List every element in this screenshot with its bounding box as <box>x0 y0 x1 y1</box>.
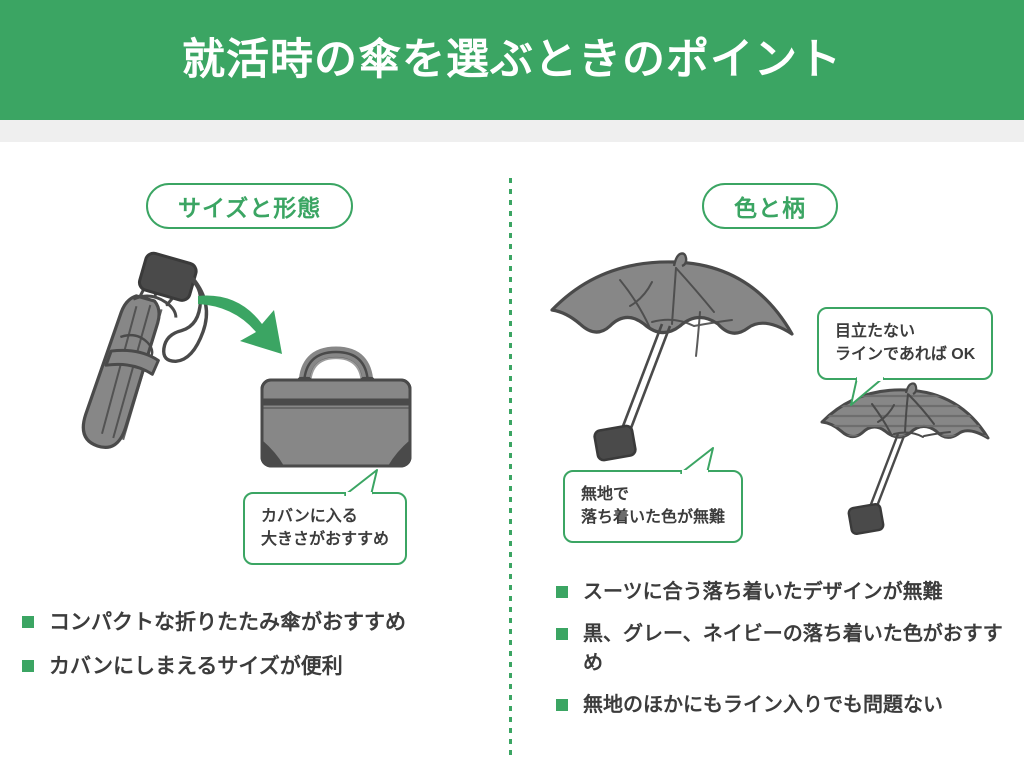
header-underbar <box>0 120 1024 142</box>
bullet-text: 黒、グレー、ネイビーの落ち着いた色がおすすめ <box>583 620 1018 677</box>
bullet-square-icon <box>22 616 34 628</box>
page-title: 就活時の傘を選ぶときのポイント <box>182 39 842 82</box>
callout-tail-down <box>843 376 891 406</box>
list-item: 無地のほかにもライン入りでも問題ない <box>556 691 1018 719</box>
bullet-square-icon <box>556 699 568 711</box>
callout-line-1: 無地で <box>581 483 725 506</box>
callout-tail-up <box>675 447 723 474</box>
bullet-text: コンパクトな折りたたみ傘がおすすめ <box>49 608 406 638</box>
section-pill-label: サイズと形態 <box>178 189 321 223</box>
bullet-text: カバンにしまえるサイズが便利 <box>49 652 343 682</box>
bullet-square-icon <box>22 660 34 672</box>
bag-fit-callout: カバンに入る 大きさがおすすめ <box>243 492 407 565</box>
bullet-square-icon <box>556 586 568 598</box>
callout-line-2: 大きさがおすすめ <box>261 528 389 551</box>
callout-tail-up <box>341 469 387 496</box>
subtle-line-callout: 目立たない ラインであれば OK <box>817 307 993 380</box>
list-item: スーツに合う落ち着いたデザインが無難 <box>556 578 1018 606</box>
business-bag-illustration <box>256 340 416 480</box>
left-bullet-list: コンパクトな折りたたみ傘がおすすめ カバンにしまえるサイズが便利 <box>22 608 492 696</box>
list-item: コンパクトな折りたたみ傘がおすすめ <box>22 608 492 638</box>
callout-line-2: ラインであれば OK <box>835 343 975 366</box>
callout-line-2: 落ち着いた色が無難 <box>581 506 725 529</box>
open-umbrella-plain-illustration <box>534 248 804 488</box>
bullet-text: スーツに合う落ち着いたデザインが無難 <box>583 578 943 606</box>
right-bullet-list: スーツに合う落ち着いたデザインが無難 黒、グレー、ネイビーの落ち着いた色がおすす… <box>556 578 1018 734</box>
section-pill-size-and-form: サイズと形態 <box>146 183 353 229</box>
plain-color-callout: 無地で 落ち着いた色が無難 <box>563 470 743 543</box>
bullet-text: 無地のほかにもライン入りでも問題ない <box>583 691 943 719</box>
list-item: カバンにしまえるサイズが便利 <box>22 652 492 682</box>
callout-line-1: 目立たない <box>835 320 975 343</box>
list-item: 黒、グレー、ネイビーの落ち着いた色がおすすめ <box>556 620 1018 677</box>
infographic-page: 就活時の傘を選ぶときのポイント サイズと形態 <box>0 0 1024 767</box>
open-umbrella-striped-illustration <box>812 382 997 547</box>
section-pill-label: 色と柄 <box>734 189 806 223</box>
section-pill-color-and-pattern: 色と柄 <box>702 183 838 229</box>
bullet-square-icon <box>556 628 568 640</box>
callout-line-1: カバンに入る <box>261 505 389 528</box>
header-banner: 就活時の傘を選ぶときのポイント <box>0 0 1024 120</box>
